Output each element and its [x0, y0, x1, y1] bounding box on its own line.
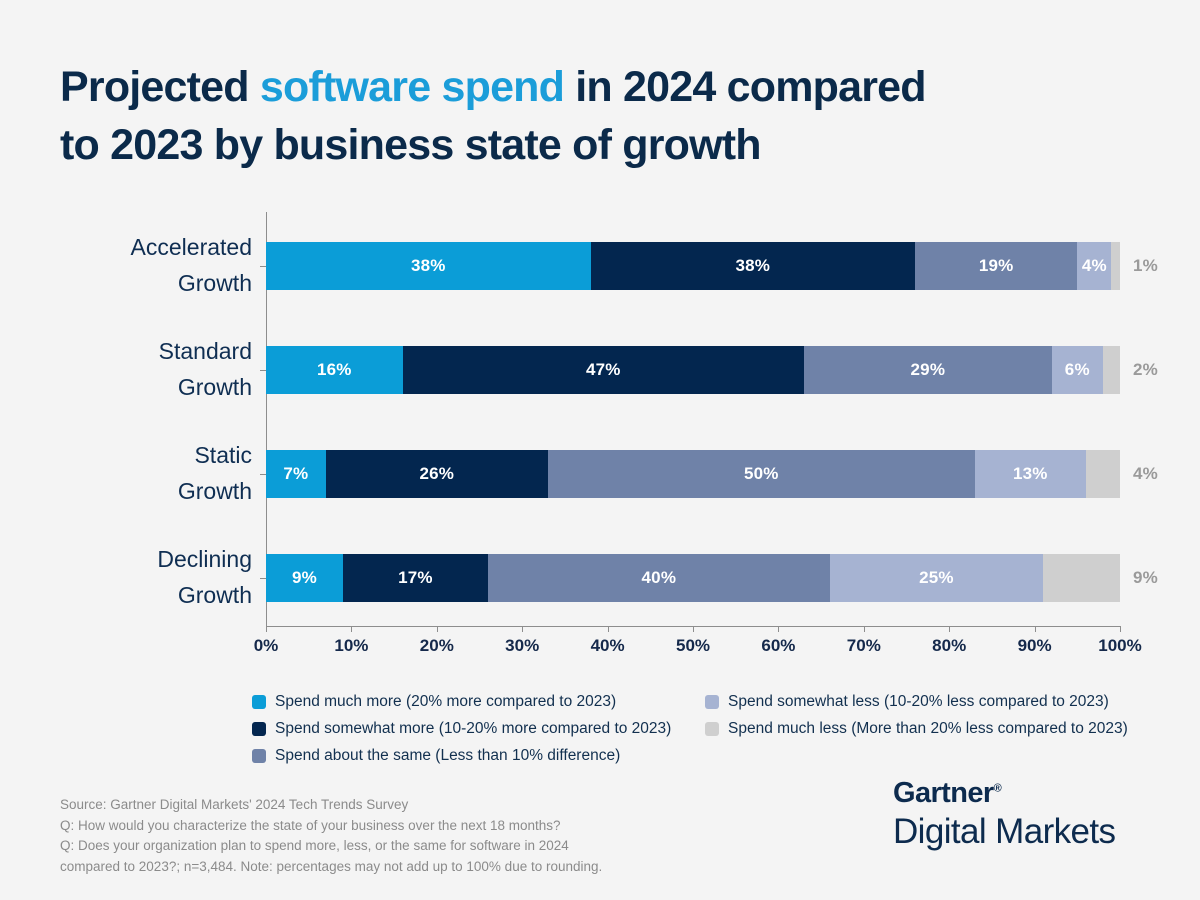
x-axis-tick-label: 0% [254, 636, 279, 656]
bar-segment[interactable]: 38% [591, 242, 916, 290]
bar-row: 38%38%19%4%1% [266, 242, 1120, 290]
x-axis-tick-label: 60% [761, 636, 795, 656]
legend-column-left: Spend much more (20% more compared to 20… [252, 693, 682, 774]
bar-segment-value-label: 38% [735, 256, 770, 276]
source-line-2: Q: How would you characterize the state … [60, 816, 740, 837]
legend-label: Spend much more (20% more compared to 20… [275, 693, 616, 711]
bar-row: 9%17%40%25%9% [266, 554, 1120, 602]
bar-segment-value-label: 38% [411, 256, 446, 276]
category-label-4: DecliningGrowth [66, 542, 252, 613]
legend-item[interactable]: Spend much more (20% more compared to 20… [252, 693, 682, 711]
x-axis-tick-label: 40% [591, 636, 625, 656]
bar-segment[interactable]: 9% [1043, 554, 1120, 602]
category-label-2: StandardGrowth [66, 334, 252, 405]
bar-segment[interactable]: 38% [266, 242, 591, 290]
title-part-1: Projected [60, 63, 260, 111]
x-axis-tick [778, 626, 779, 632]
x-axis-tick-label: 100% [1098, 636, 1141, 656]
x-axis-tick [1120, 626, 1121, 632]
logo-gartner-wordmark: Gartner® [893, 778, 1153, 810]
source-line-3: Q: Does your organization plan to spend … [60, 836, 740, 857]
category-label-line: Static [66, 438, 252, 474]
x-axis-tick [1035, 626, 1036, 632]
legend-label: Spend about the same (Less than 10% diff… [275, 747, 620, 765]
bar-segment-value-label: 16% [317, 360, 352, 380]
category-label-line: Growth [66, 578, 252, 614]
x-axis-tick-label: 80% [932, 636, 966, 656]
bar-segment-value-label: 50% [744, 464, 779, 484]
registered-trademark-icon: ® [994, 782, 1002, 794]
bar-segment[interactable]: 6% [1052, 346, 1103, 394]
category-axis-labels: AcceleratedGrowthStandardGrowthStaticGro… [60, 212, 252, 632]
bar-segment[interactable]: 4% [1077, 242, 1111, 290]
bar-segment[interactable]: 4% [1086, 450, 1120, 498]
page-title: Projected software spend in 2024 compare… [60, 58, 1150, 175]
category-label-line: Declining [66, 542, 252, 578]
x-axis-tick [864, 626, 865, 632]
bar-segment[interactable]: 17% [343, 554, 488, 602]
legend-label: Spend somewhat less (10-20% less compare… [728, 693, 1109, 711]
bar-segment-value-label: 26% [419, 464, 454, 484]
bar-segment-value-label: 47% [586, 360, 621, 380]
source-line-1: Source: Gartner Digital Markets' 2024 Te… [60, 795, 740, 816]
legend-label: Spend somewhat more (10-20% more compare… [275, 720, 671, 738]
bar-segment-value-label: 9% [1133, 568, 1158, 588]
x-axis-tick [693, 626, 694, 632]
bar-segment-value-label: 19% [979, 256, 1014, 276]
bar-segment-value-label: 17% [398, 568, 433, 588]
x-axis-tick-label: 50% [676, 636, 710, 656]
legend-item[interactable]: Spend much less (More than 20% less comp… [705, 720, 1152, 738]
title-part-2: in 2024 compared [564, 63, 926, 111]
bar-segment[interactable]: 19% [915, 242, 1077, 290]
stacked-bar-chart: AcceleratedGrowthStandardGrowthStaticGro… [60, 212, 1150, 632]
legend-column-right: Spend somewhat less (10-20% less compare… [705, 693, 1152, 747]
bar-segment-value-label: 2% [1133, 360, 1158, 380]
x-axis-tick-label: 70% [847, 636, 881, 656]
category-label-3: StaticGrowth [66, 438, 252, 509]
category-label-line: Growth [66, 474, 252, 510]
bar-segment[interactable]: 13% [975, 450, 1086, 498]
category-label-line: Growth [66, 266, 252, 302]
x-axis-tick-label: 10% [334, 636, 368, 656]
x-axis-tick [266, 626, 267, 632]
legend-color-swatch [705, 722, 719, 736]
legend-item[interactable]: Spend somewhat more (10-20% more compare… [252, 720, 682, 738]
bar-segment[interactable]: 2% [1103, 346, 1120, 394]
bar-segment[interactable]: 16% [266, 346, 403, 394]
title-line-1: Projected software spend in 2024 compare… [60, 58, 1150, 116]
bar-segment-value-label: 29% [911, 360, 946, 380]
x-axis-tick-label: 30% [505, 636, 539, 656]
bar-segment[interactable]: 29% [804, 346, 1052, 394]
bar-segment[interactable]: 26% [326, 450, 548, 498]
bar-segment-value-label: 6% [1065, 360, 1090, 380]
bar-segment-value-label: 4% [1082, 256, 1107, 276]
legend-color-swatch [252, 722, 266, 736]
bar-segment-value-label: 9% [292, 568, 317, 588]
bar-row: 16%47%29%6%2% [266, 346, 1120, 394]
x-axis-tick [351, 626, 352, 632]
source-line-4: compared to 2023?; n=3,484. Note: percen… [60, 857, 740, 878]
bar-segment-value-label: 4% [1133, 464, 1158, 484]
legend-item[interactable]: Spend about the same (Less than 10% diff… [252, 747, 682, 765]
x-axis-tick [608, 626, 609, 632]
title-line-2: to 2023 by business state of growth [60, 116, 1150, 174]
category-label-line: Standard [66, 334, 252, 370]
gartner-digital-markets-logo: Gartner® Digital Markets [893, 778, 1153, 852]
bar-segment-value-label: 25% [919, 568, 954, 588]
bar-row: 7%26%50%13%4% [266, 450, 1120, 498]
category-label-line: Growth [66, 370, 252, 406]
category-label-line: Accelerated [66, 230, 252, 266]
x-axis-tick-label: 20% [420, 636, 454, 656]
bar-segment-value-label: 1% [1133, 256, 1158, 276]
bar-segment[interactable]: 7% [266, 450, 326, 498]
legend-color-swatch [252, 695, 266, 709]
bar-segment[interactable]: 50% [548, 450, 975, 498]
legend-color-swatch [252, 749, 266, 763]
bar-segment[interactable]: 25% [830, 554, 1044, 602]
bar-segment-value-label: 13% [1013, 464, 1048, 484]
legend-item[interactable]: Spend somewhat less (10-20% less compare… [705, 693, 1152, 711]
x-axis-tick [522, 626, 523, 632]
bar-segment-value-label: 40% [642, 568, 677, 588]
bar-segment[interactable]: 47% [403, 346, 804, 394]
x-axis-tick [437, 626, 438, 632]
logo-gartner-text: Gartner [893, 777, 994, 809]
source-note: Source: Gartner Digital Markets' 2024 Te… [60, 795, 740, 877]
logo-digital-markets-text: Digital Markets [893, 811, 1153, 852]
legend-color-swatch [705, 695, 719, 709]
x-axis-tick [949, 626, 950, 632]
x-axis-tick-label: 90% [1018, 636, 1052, 656]
plot-area: 0%10%20%30%40%50%60%70%80%90%100%38%38%1… [266, 212, 1120, 632]
title-accent-phrase: software spend [260, 63, 564, 111]
legend-label: Spend much less (More than 20% less comp… [728, 720, 1128, 738]
category-label-1: AcceleratedGrowth [66, 230, 252, 301]
bar-segment[interactable]: 40% [488, 554, 830, 602]
bar-segment[interactable]: 9% [266, 554, 343, 602]
bar-segment-value-label: 7% [283, 464, 308, 484]
bar-segment[interactable]: 1% [1111, 242, 1120, 290]
